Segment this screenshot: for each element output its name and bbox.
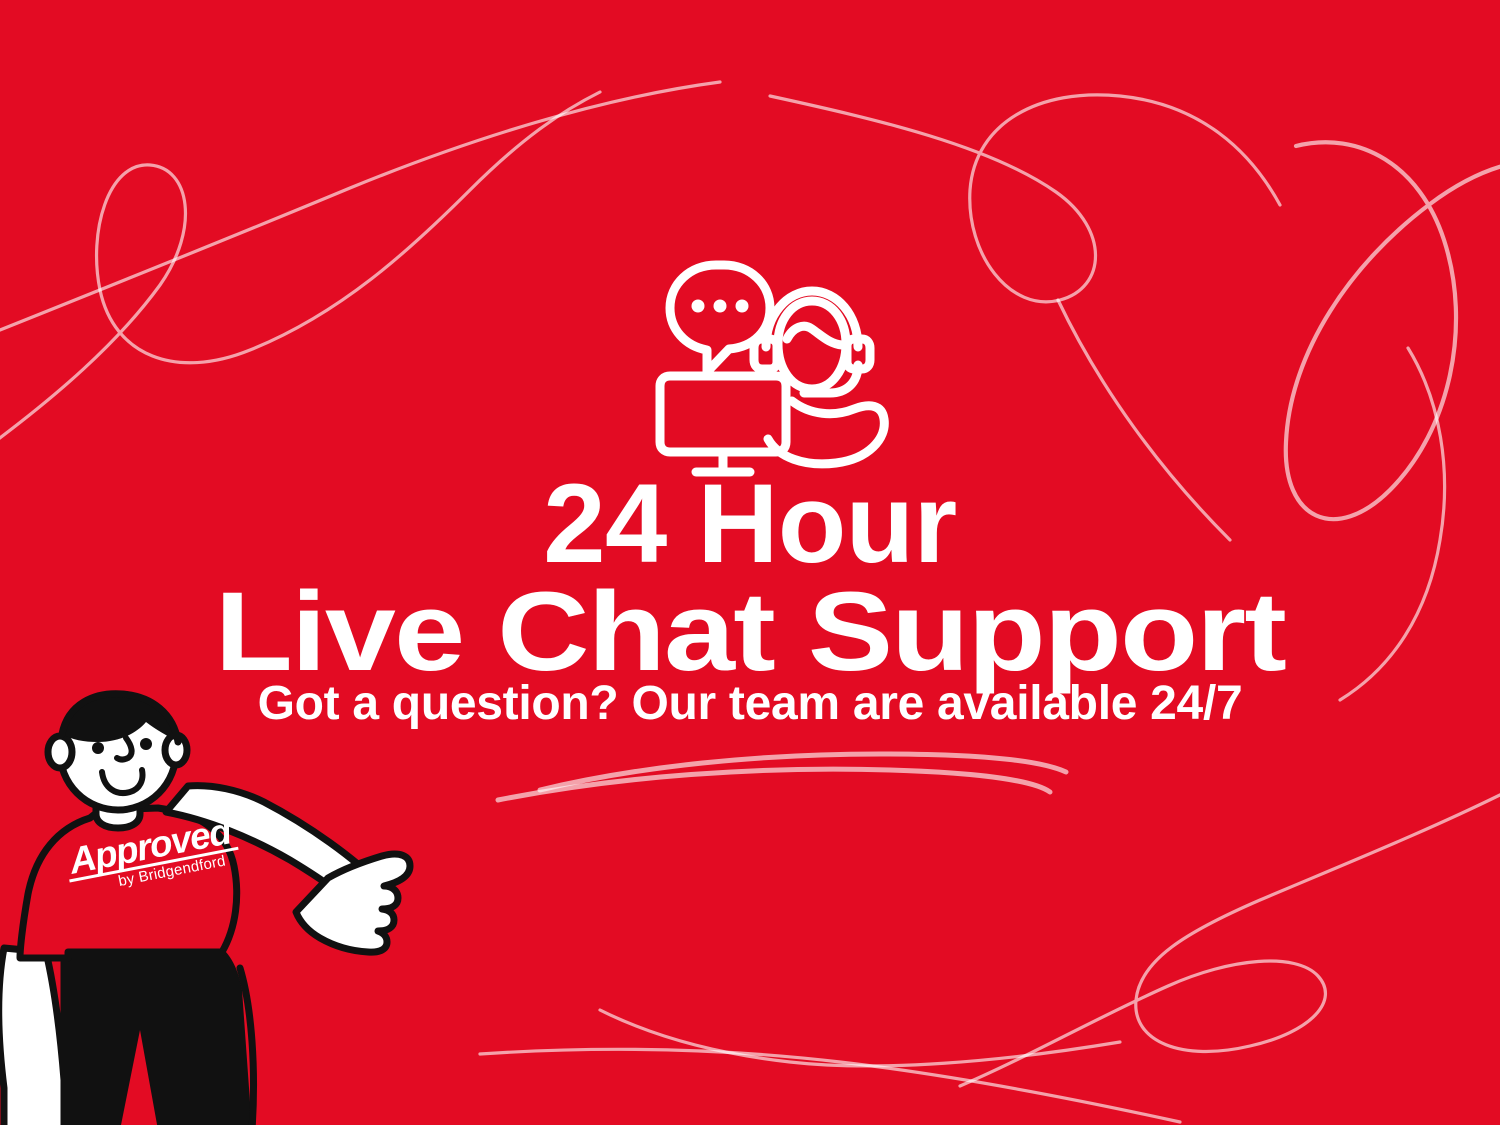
mascot-eye-right — [140, 738, 152, 750]
mascot-ear-left — [48, 736, 72, 768]
promo-banner: 24 Hour Live Chat Support Got a question… — [0, 0, 1500, 1125]
headline-line-2: Live Chat Support — [0, 578, 1500, 686]
mascot-shirt — [20, 808, 237, 958]
mascot-trousers — [64, 942, 252, 1125]
pointing-character — [0, 690, 430, 1125]
monitor-icon — [660, 376, 786, 472]
headline-line-1: 24 Hour — [0, 470, 1500, 578]
headline-block: 24 Hour Live Chat Support — [0, 470, 1500, 685]
mascot-eye-left — [92, 742, 104, 754]
mascot-far-arm — [0, 948, 64, 1125]
live-chat-support-icon — [650, 243, 902, 483]
